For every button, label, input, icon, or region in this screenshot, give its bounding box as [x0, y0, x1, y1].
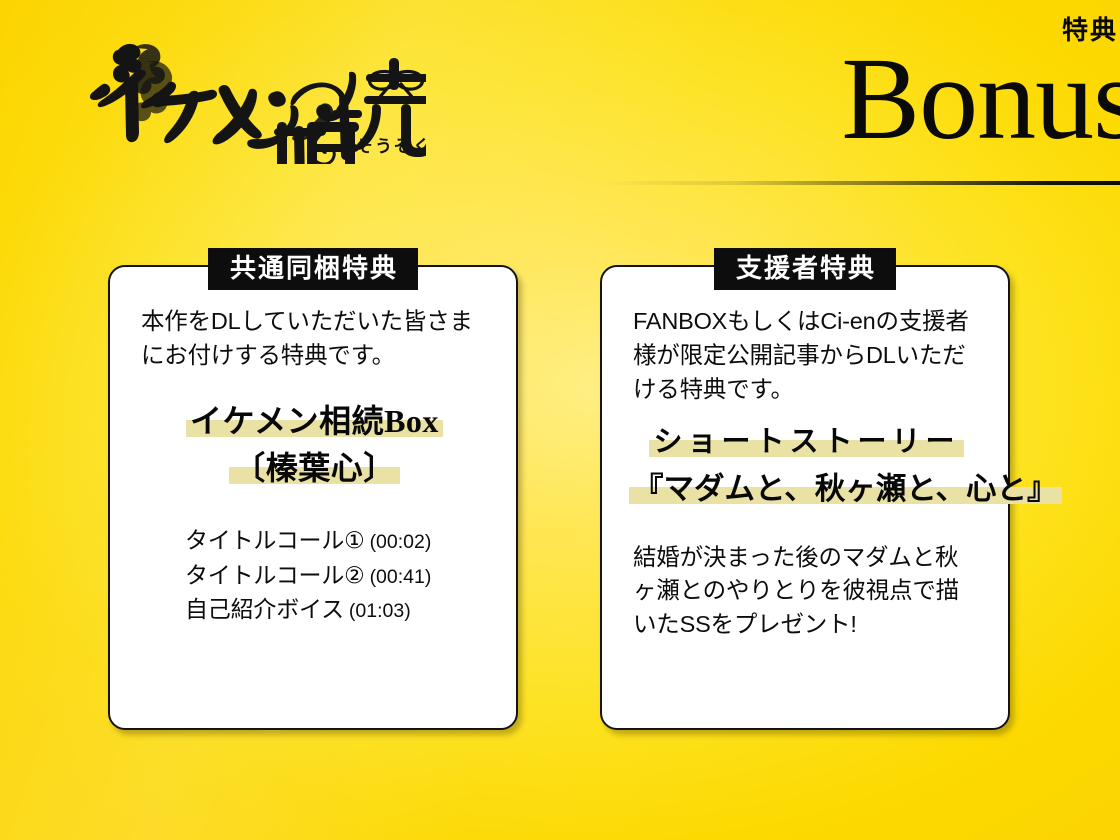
- track-list: タイトルコール①(00:02) タイトルコール②(00:41) 自己紹介ボイス(…: [141, 523, 488, 628]
- card-feature-title: イケメン相続Box 〔榛葉心〕: [141, 401, 488, 489]
- bonus-card-supporter: 支援者特典 FANBOXもしくはCi-enの支援者様が限定公開記事からDLいただ…: [600, 248, 1010, 730]
- track-duration: (00:02): [370, 531, 432, 553]
- card-intro-text: 本作をDLしていただいた皆さまにお付けする特典です。: [141, 305, 488, 373]
- track-duration: (00:41): [370, 566, 432, 588]
- track-row: タイトルコール②(00:41): [185, 558, 488, 593]
- feature-title-line-1: ショートストーリー: [653, 424, 959, 461]
- card-badge-supporter: 支援者特典: [714, 248, 896, 290]
- header-divider-rule: [600, 181, 1120, 185]
- card-body: FANBOXもしくはCi-enの支援者様が限定公開記事からDLいただける特典です…: [600, 265, 1010, 730]
- feature-title-line-2: 〔榛葉心〕: [233, 448, 396, 489]
- card-feature-title: ショートストーリー 『マダムと、秋ヶ瀬と、心と』: [633, 424, 980, 508]
- track-label: タイトルコール②: [185, 562, 365, 588]
- page-header: そうぞく 特典 Bonus: [0, 0, 1120, 200]
- bonus-title: Bonus: [841, 46, 1120, 152]
- svg-text:そうぞく: そうぞく: [356, 137, 426, 156]
- bonus-title-block: 特典 Bonus: [841, 18, 1120, 152]
- bonus-card-common-bundle: 共通同梱特典 本作をDLしていただいた皆さまにお付けする特典です。 イケメン相続…: [108, 248, 518, 730]
- card-badge-common-bundle: 共通同梱特典: [208, 248, 418, 290]
- feature-title-line-1: イケメン相続Box: [190, 401, 439, 442]
- furigana: そうぞく: [356, 137, 426, 156]
- card-intro-text: FANBOXもしくはCi-enの支援者様が限定公開記事からDLいただける特典です…: [633, 305, 980, 406]
- card-body: 本作をDLしていただいた皆さまにお付けする特典です。 イケメン相続Box 〔榛葉…: [108, 265, 518, 730]
- feature-title-line-2: 『マダムと、秋ヶ瀬と、心と』: [633, 470, 1058, 509]
- track-row: 自己紹介ボイス(01:03): [185, 592, 488, 627]
- track-label: タイトルコール①: [185, 527, 365, 553]
- track-duration: (01:03): [349, 600, 411, 622]
- ikemen-souzoku-logo: そうぞく: [46, 34, 426, 164]
- track-row: タイトルコール①(00:02): [185, 523, 488, 558]
- card-outro-text: 結婚が決まった後のマダムと秋ヶ瀬とのやりとりを彼視点で描いたSSをプレゼント!: [633, 541, 980, 642]
- track-label: 自己紹介ボイス: [185, 596, 344, 622]
- bonus-cards-section: 共通同梱特典 本作をDLしていただいた皆さまにお付けする特典です。 イケメン相続…: [0, 248, 1120, 748]
